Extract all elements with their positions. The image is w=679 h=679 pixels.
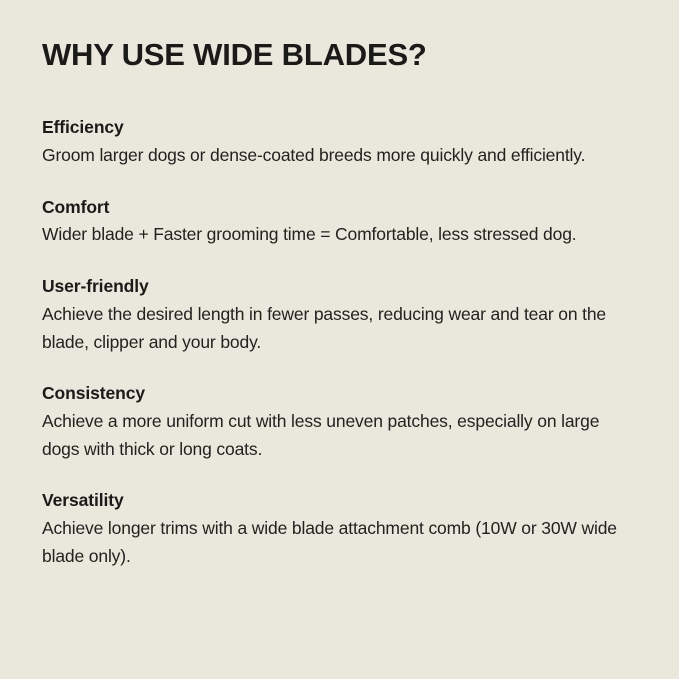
section-body: Achieve longer trims with a wide blade a… xyxy=(42,515,622,570)
benefit-section-efficiency: Efficiency Groom larger dogs or dense-co… xyxy=(42,117,637,170)
section-body: Achieve the desired length in fewer pass… xyxy=(42,301,622,356)
benefit-section-consistency: Consistency Achieve a more uniform cut w… xyxy=(42,383,637,463)
benefit-section-versatility: Versatility Achieve longer trims with a … xyxy=(42,490,637,570)
section-body: Achieve a more uniform cut with less une… xyxy=(42,408,622,463)
section-body: Groom larger dogs or dense-coated breeds… xyxy=(42,142,622,170)
section-body: Wider blade + Faster grooming time = Com… xyxy=(42,221,622,249)
section-heading: User-friendly xyxy=(42,276,637,298)
benefits-list: Efficiency Groom larger dogs or dense-co… xyxy=(42,117,637,571)
benefit-section-comfort: Comfort Wider blade + Faster grooming ti… xyxy=(42,197,637,250)
info-panel: WHY USE WIDE BLADES? Efficiency Groom la… xyxy=(0,0,679,679)
section-heading: Comfort xyxy=(42,197,637,219)
section-heading: Consistency xyxy=(42,383,637,405)
benefit-section-user-friendly: User-friendly Achieve the desired length… xyxy=(42,276,637,356)
page-title: WHY USE WIDE BLADES? xyxy=(42,34,637,72)
section-heading: Efficiency xyxy=(42,117,637,139)
section-heading: Versatility xyxy=(42,490,637,512)
